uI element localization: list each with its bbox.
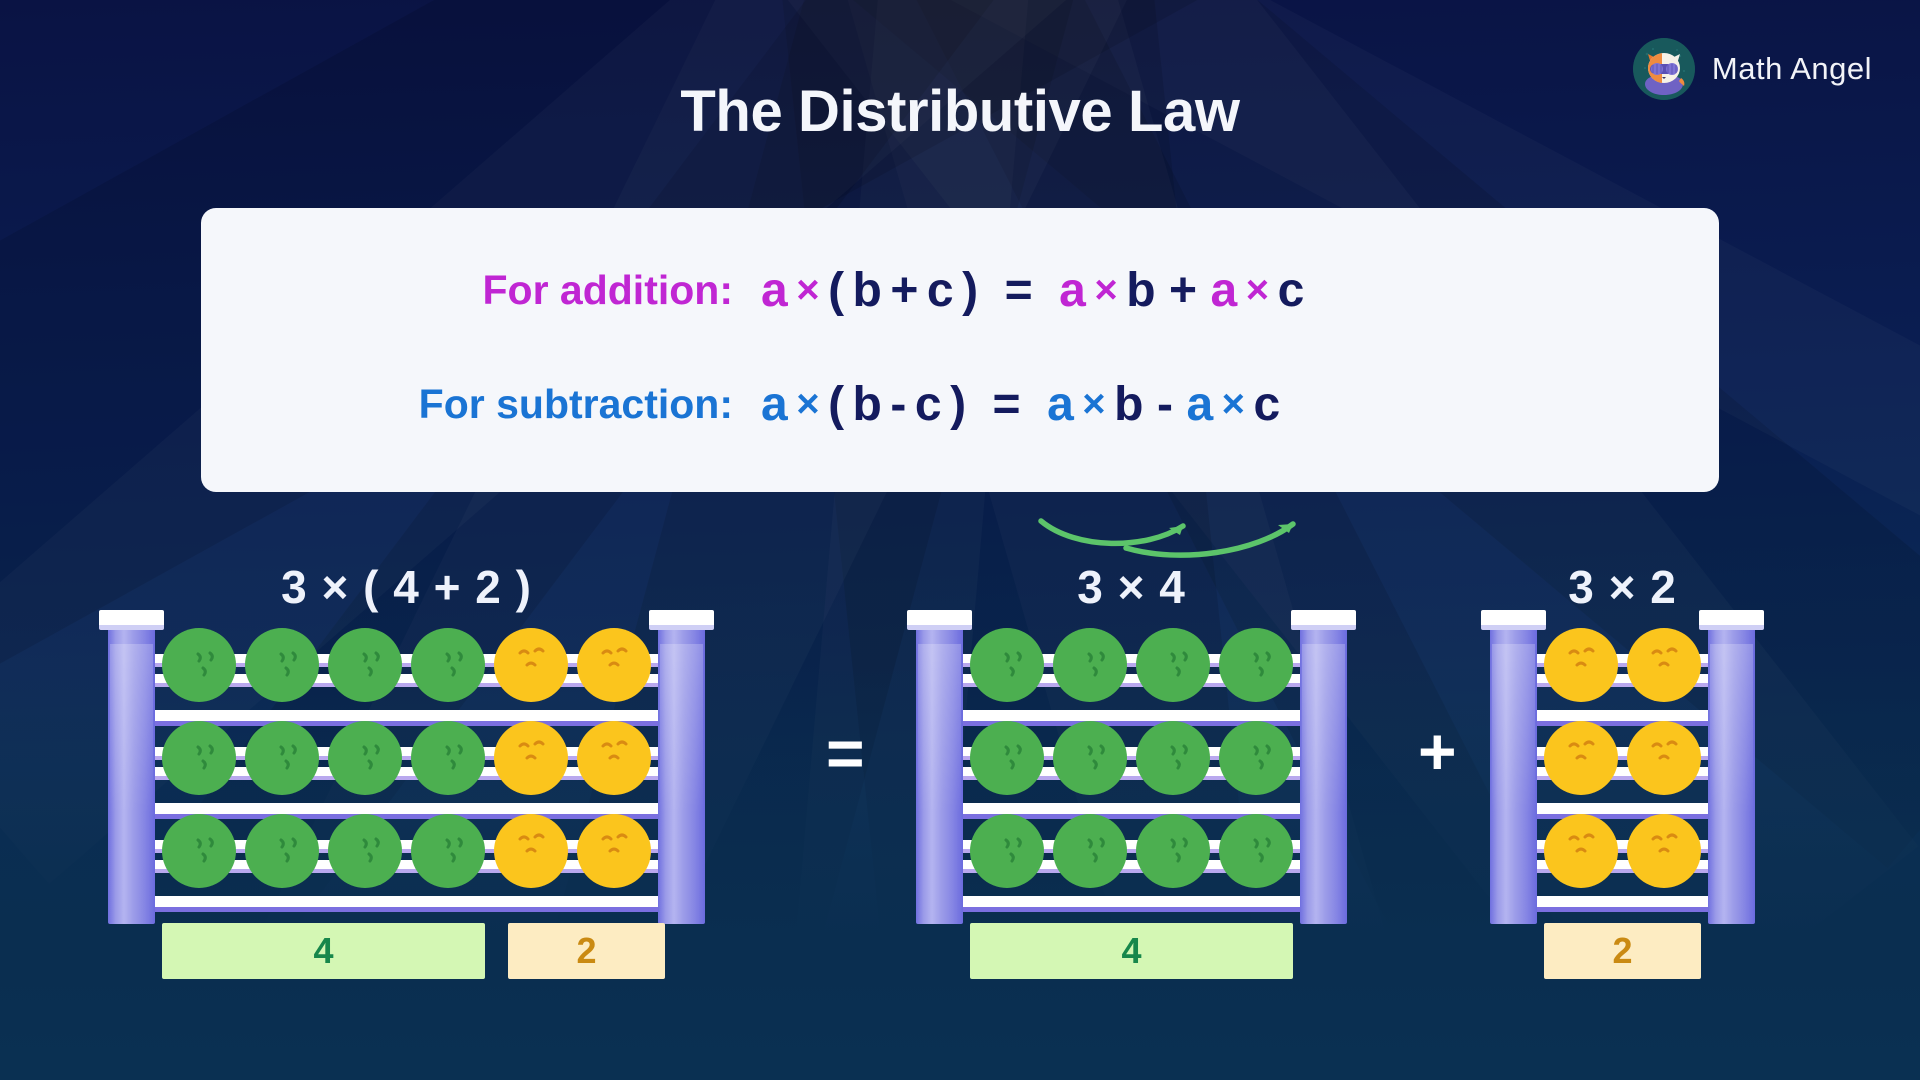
- brand-logo: Math Angel: [1633, 38, 1872, 100]
- abacus-bead-green[interactable]: [245, 628, 319, 702]
- abacus-rod: [1537, 814, 1708, 907]
- abacus-post-cap: [1699, 610, 1764, 630]
- value-tag-green: 4: [162, 923, 485, 979]
- formula-row-subtraction: For subtraction: a × ( b - c ) = a × b -…: [201, 358, 1719, 450]
- addition-right-a1: a: [1059, 263, 1086, 318]
- addition-right-c: c: [1278, 263, 1305, 318]
- abacus-bead-green[interactable]: [245, 814, 319, 888]
- abacus-post-highlight: [1492, 644, 1535, 814]
- abacus-frame: [108, 628, 705, 928]
- abacus-bead-green[interactable]: [411, 628, 485, 702]
- subtraction-right-a2: a: [1186, 377, 1213, 432]
- abacus-bead-green[interactable]: [162, 628, 236, 702]
- abacus-shelf: [963, 803, 1300, 814]
- subtraction-right-times1: ×: [1082, 382, 1106, 427]
- abacus-bead-green[interactable]: [162, 814, 236, 888]
- value-tag-amber: 2: [1544, 923, 1701, 979]
- formula-card: For addition: a × ( b + c ) = a × b + a …: [201, 208, 1719, 492]
- subtraction-right-a1: a: [1047, 377, 1074, 432]
- abacus-rod: [155, 628, 658, 721]
- abacus-post-highlight: [1302, 644, 1345, 814]
- addition-right-a2: a: [1211, 263, 1238, 318]
- addition-left-times: ×: [796, 268, 820, 313]
- abacus-bead-yellow[interactable]: [577, 628, 651, 702]
- abacus-post-right: [658, 628, 705, 924]
- abacus-bead-green[interactable]: [970, 814, 1044, 888]
- abacus-bead-yellow[interactable]: [494, 814, 568, 888]
- addition-right-b: b: [1126, 263, 1156, 318]
- abacus-post-cap: [99, 610, 164, 630]
- subtraction-left-times: ×: [796, 382, 820, 427]
- abacus-bead-yellow[interactable]: [1627, 628, 1701, 702]
- abacus-bead-green[interactable]: [1053, 814, 1127, 888]
- addition-left-c: c: [927, 263, 954, 318]
- abacus-rod: [963, 628, 1300, 721]
- subtraction-left-a: a: [761, 377, 788, 432]
- addition-label: For addition:: [201, 267, 761, 314]
- abacus-rod: [963, 814, 1300, 907]
- abacus-post-left: [916, 628, 963, 924]
- addition-expression: a × ( b + c ) = a × b + a × c: [761, 263, 1305, 318]
- abacus-rod: [963, 721, 1300, 814]
- subtraction-left-close-paren: ): [950, 377, 966, 432]
- abacus-bead-yellow[interactable]: [577, 721, 651, 795]
- plus-operator: +: [1418, 718, 1457, 784]
- abacus-bead-green[interactable]: [1136, 628, 1210, 702]
- abacus-bead-green[interactable]: [1219, 628, 1293, 702]
- abacus-post-cap: [907, 610, 972, 630]
- abacus-frame: [1490, 628, 1755, 928]
- abacus-rod: [155, 721, 658, 814]
- abacus-group-label: 3 × 2: [1490, 560, 1755, 614]
- addition-left-a: a: [761, 263, 788, 318]
- abacus-shelf: [963, 896, 1300, 907]
- abacus-bead-yellow[interactable]: [1627, 814, 1701, 888]
- abacus-bead-yellow[interactable]: [1627, 721, 1701, 795]
- abacus-bead-green[interactable]: [245, 721, 319, 795]
- abacus-rod: [1537, 721, 1708, 814]
- abacus-bead-green[interactable]: [411, 721, 485, 795]
- value-tag-green: 4: [970, 923, 1293, 979]
- abacus-group-label: 3 × ( 4 + 2 ): [108, 560, 705, 614]
- subtraction-label: For subtraction:: [201, 381, 761, 428]
- abacus-post-highlight: [918, 644, 961, 814]
- abacus-rod: [1537, 628, 1708, 721]
- abacus-bead-green[interactable]: [411, 814, 485, 888]
- abacus-post-highlight: [110, 644, 153, 814]
- subtraction-equals: =: [993, 377, 1022, 432]
- subtraction-left-c: c: [915, 377, 942, 432]
- abacus-bead-green[interactable]: [162, 721, 236, 795]
- abacus-bead-green[interactable]: [1219, 721, 1293, 795]
- addition-equals: =: [1005, 263, 1034, 318]
- addition-left-close-paren: ): [962, 263, 978, 318]
- abacus-bead-green[interactable]: [970, 628, 1044, 702]
- subtraction-right-b: b: [1114, 377, 1144, 432]
- abacus-bead-yellow[interactable]: [577, 814, 651, 888]
- subtraction-left-open-paren: (: [828, 377, 844, 432]
- addition-left-open-paren: (: [828, 263, 844, 318]
- abacus-post-right: [1708, 628, 1755, 924]
- subtraction-left-b: b: [853, 377, 883, 432]
- abacus-bead-yellow[interactable]: [1544, 721, 1618, 795]
- abacus-post-left: [1490, 628, 1537, 924]
- abacus-bead-green[interactable]: [1053, 628, 1127, 702]
- equals-operator: =: [826, 720, 865, 786]
- abacus-post-cap: [1291, 610, 1356, 630]
- abacus-bead-green[interactable]: [1219, 814, 1293, 888]
- abacus-bead-green[interactable]: [1053, 721, 1127, 795]
- abacus-bead-yellow[interactable]: [1544, 628, 1618, 702]
- brand-name: Math Angel: [1712, 51, 1872, 87]
- abacus-bead-green[interactable]: [1136, 814, 1210, 888]
- subtraction-expression: a × ( b - c ) = a × b - a × c: [761, 377, 1281, 432]
- abacus-visual-row: = + 3 × ( 4 + 2 )423 × 443 × 22: [0, 560, 1920, 1010]
- abacus-bead-yellow[interactable]: [1544, 814, 1618, 888]
- subtraction-right-times2: ×: [1222, 382, 1246, 427]
- abacus-post-left: [108, 628, 155, 924]
- abacus-shelf: [963, 710, 1300, 721]
- abacus-bead-yellow[interactable]: [494, 628, 568, 702]
- abacus-bead-yellow[interactable]: [494, 721, 568, 795]
- abacus-frame: [916, 628, 1347, 928]
- abacus-post-highlight: [660, 644, 703, 814]
- abacus-rod: [155, 814, 658, 907]
- abacus-shelf: [1537, 803, 1708, 814]
- abacus-post-cap: [649, 610, 714, 630]
- addition-left-b: b: [853, 263, 883, 318]
- abacus-bead-green[interactable]: [1136, 721, 1210, 795]
- subtraction-right-c: c: [1254, 377, 1281, 432]
- abacus-shelf: [1537, 896, 1708, 907]
- abacus-post-highlight: [1710, 644, 1753, 814]
- subtraction-right-operator: -: [1157, 377, 1173, 432]
- abacus-post-cap: [1481, 610, 1546, 630]
- abacus-post-right: [1300, 628, 1347, 924]
- abacus-bead-green[interactable]: [328, 721, 402, 795]
- addition-left-operator: +: [890, 263, 919, 318]
- formula-row-addition: For addition: a × ( b + c ) = a × b + a …: [201, 244, 1719, 336]
- abacus-bead-green[interactable]: [328, 814, 402, 888]
- cat-mascot-icon: [1633, 38, 1695, 100]
- abacus-shelf: [155, 803, 658, 814]
- abacus-shelf: [1537, 710, 1708, 721]
- value-tag-amber: 2: [508, 923, 665, 979]
- abacus-shelf: [155, 896, 658, 907]
- abacus-bead-green[interactable]: [970, 721, 1044, 795]
- addition-right-operator: +: [1169, 263, 1198, 318]
- addition-right-times2: ×: [1246, 268, 1270, 313]
- abacus-shelf: [155, 710, 658, 721]
- subtraction-left-operator: -: [890, 377, 906, 432]
- addition-right-times1: ×: [1094, 268, 1118, 313]
- distribute-arrows-icon: [1031, 508, 1331, 570]
- abacus-bead-green[interactable]: [328, 628, 402, 702]
